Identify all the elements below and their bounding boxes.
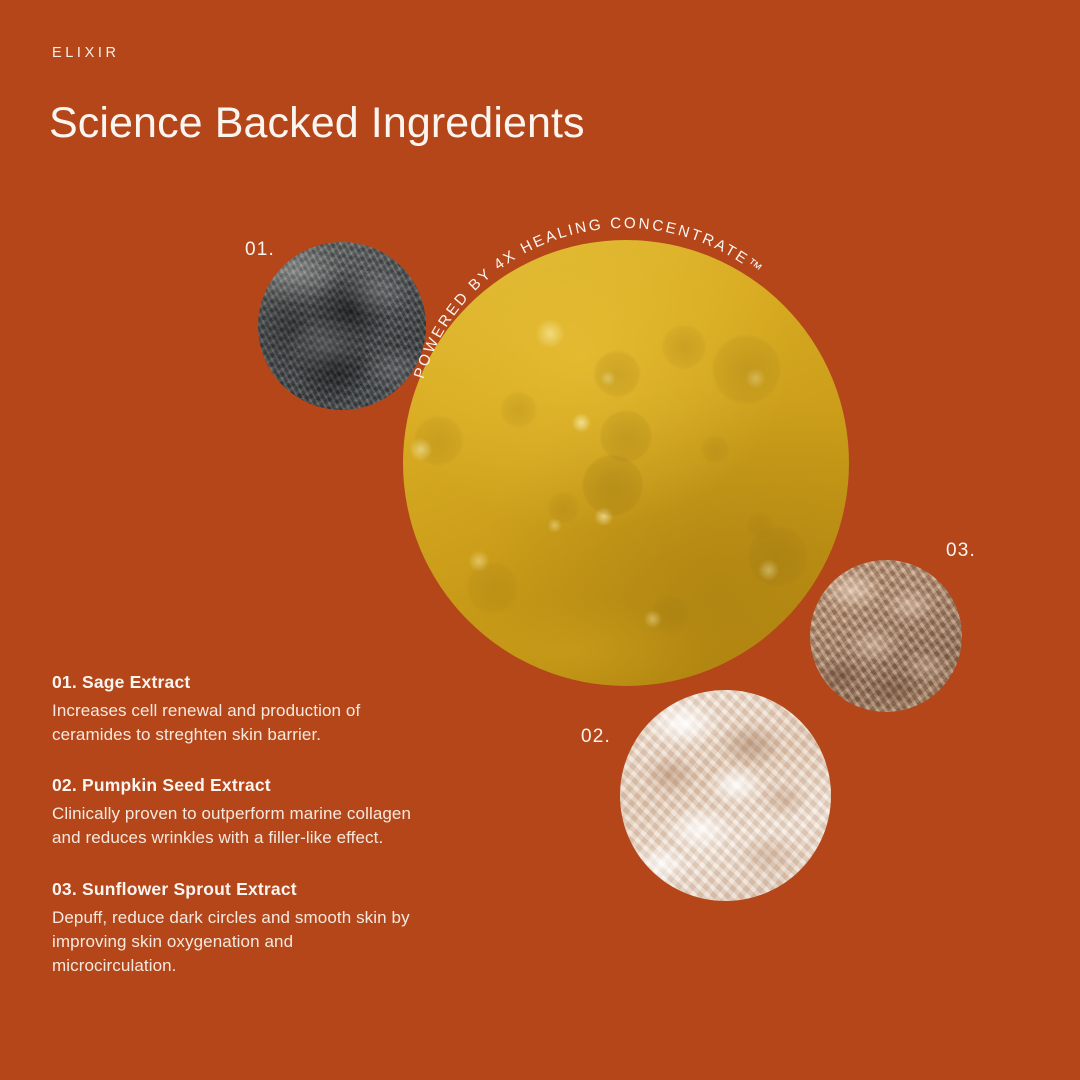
ingredient-title: 03. Sunflower Sprout Extract [52,879,452,900]
ingredient-description: Clinically proven to outperform marine c… [52,802,420,850]
brand-kicker: ELIXIR [52,46,120,61]
ingredient-list: 01. Sage Extract Increases cell renewal … [52,672,452,978]
swatch-label-03: 03. [946,541,976,560]
ingredient-title: 01. Sage Extract [52,672,452,693]
sunflower-sprout-extract-swatch [810,560,962,712]
swatch-label-02: 02. [581,727,611,746]
ingredients-poster: ELIXIR Science Backed Ingredients 01. 02… [0,0,1080,1080]
ingredient-title: 02. Pumpkin Seed Extract [52,775,452,796]
pumpkin-seed-extract-swatch [620,690,831,901]
healing-concentrate-oil-swatch [403,240,849,686]
sage-extract-powder-swatch [258,242,426,410]
list-item: 02. Pumpkin Seed Extract Clinically prov… [52,775,452,850]
list-item: 03. Sunflower Sprout Extract Depuff, red… [52,879,452,978]
list-item: 01. Sage Extract Increases cell renewal … [52,672,452,747]
page-title: Science Backed Ingredients [49,99,585,148]
ingredient-description: Increases cell renewal and production of… [52,699,420,747]
ingredient-description: Depuff, reduce dark circles and smooth s… [52,906,420,978]
swatch-label-01: 01. [245,240,275,259]
